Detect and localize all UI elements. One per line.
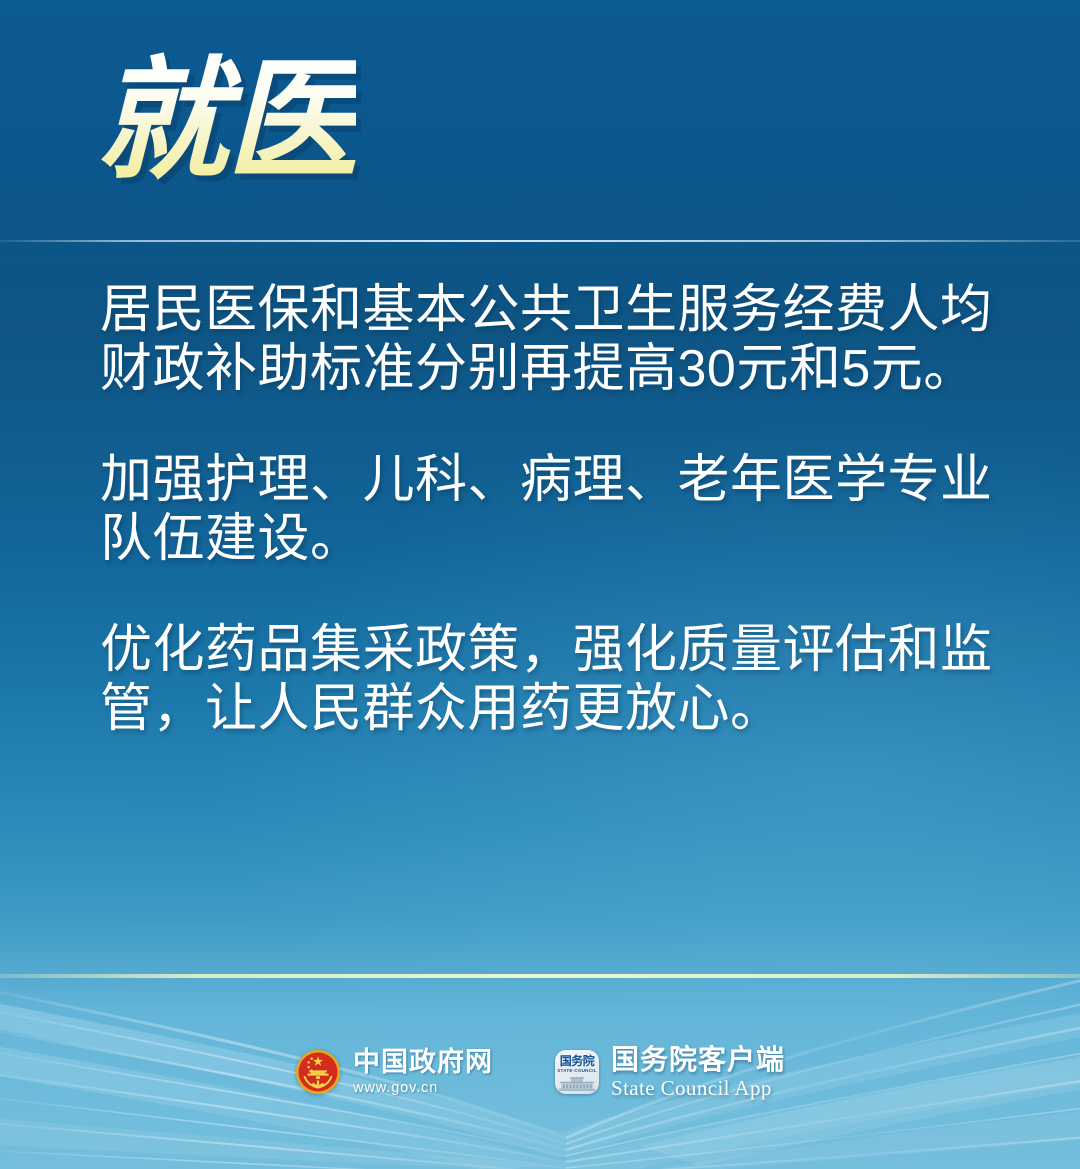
footer-logos: 中国政府网 www.gov.cn 国务院 STATE·COUNCIL (0, 1036, 1080, 1108)
title-container: 就医 (96, 46, 356, 196)
great-hall-building-icon (559, 1074, 595, 1091)
paragraph-2: 加强护理、儿科、病理、老年医学专业队伍建设。 (100, 451, 1030, 569)
wave-decoration (0, 900, 1080, 1169)
footer-divider (0, 974, 1080, 978)
app-icon-cn-label: 国务院 (555, 1055, 599, 1068)
body-content: 居民医保和基本公共卫生服务经费人均财政补助标准分别再提高30元和5元。 加强护理… (100, 281, 1030, 739)
poster-card: 就医 居民医保和基本公共卫生服务经费人均财政补助标准分别再提高30元和5元。 加… (0, 0, 1080, 1169)
paragraph-1: 居民医保和基本公共卫生服务经费人均财政补助标准分别再提高30元和5元。 (100, 281, 1030, 399)
china-national-emblem-icon (295, 1049, 341, 1095)
state-council-text: 国务院客户端 State Council App (611, 1045, 785, 1100)
gov-cn-text: 中国政府网 www.gov.cn (353, 1048, 493, 1097)
page-title: 就医 (96, 46, 356, 196)
state-council-name-en: State Council App (611, 1076, 785, 1100)
paragraph-3: 优化药品集采政策，强化质量评估和监管，让人民群众用药更放心。 (100, 621, 1030, 739)
title-divider (0, 240, 1080, 242)
gov-cn-logo-block[interactable]: 中国政府网 www.gov.cn (295, 1048, 493, 1097)
state-council-name-cn: 国务院客户端 (611, 1045, 785, 1075)
state-council-app-logo-block[interactable]: 国务院 STATE·COUNCIL (555, 1045, 785, 1100)
gov-cn-name: 中国政府网 (353, 1048, 493, 1077)
state-council-app-icon: 国务院 STATE·COUNCIL (555, 1050, 599, 1094)
gov-cn-url: www.gov.cn (353, 1079, 493, 1097)
